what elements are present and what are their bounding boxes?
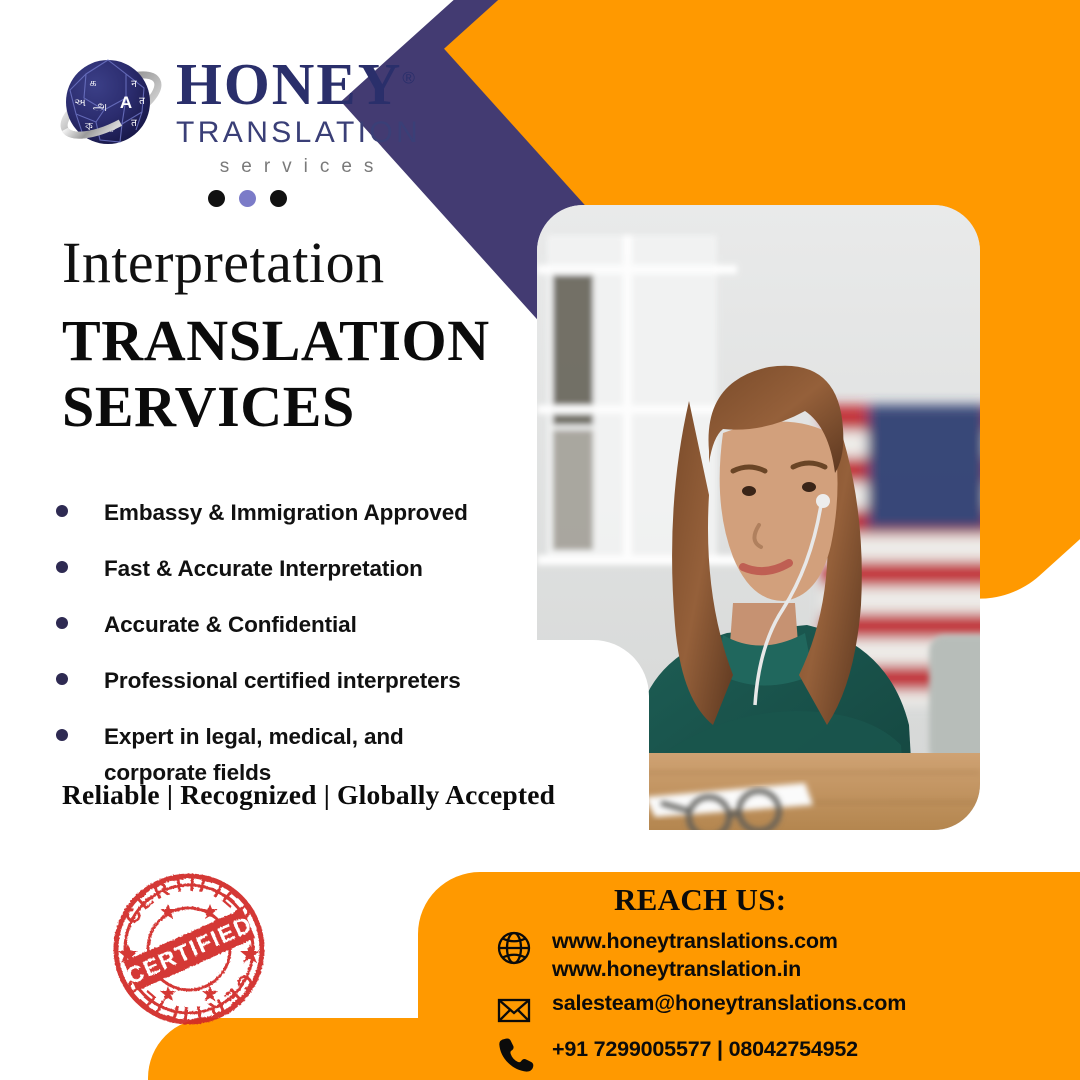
phone-icon bbox=[494, 1032, 534, 1072]
hero-headline: TRANSLATION SERVICES bbox=[62, 308, 490, 440]
svg-text:A: A bbox=[120, 93, 132, 112]
website-text[interactable]: www.honeytranslations.com www.honeytrans… bbox=[552, 928, 838, 983]
contact-row-phone[interactable]: +91 7299005577 | 08042754952 bbox=[494, 1032, 858, 1072]
svg-text:க: க bbox=[89, 77, 96, 89]
feature-text: Accurate & Confidential bbox=[104, 607, 357, 643]
dot-separator bbox=[208, 190, 287, 207]
logo-line-translation: TRANSLATION bbox=[176, 116, 421, 150]
svg-text:न: न bbox=[131, 79, 137, 90]
dot-2 bbox=[239, 190, 256, 207]
poster-canvas: க ଴ न અ அ A त ক ச त HONEY® bbox=[0, 0, 1080, 1080]
envelope-icon bbox=[494, 990, 534, 1030]
logo-name: HONEY bbox=[176, 51, 402, 117]
globe-logo-icon: க ଴ न અ அ A त ক ச त bbox=[56, 50, 166, 160]
contact-row-email[interactable]: salesteam@honeytranslations.com bbox=[494, 990, 906, 1030]
bullet-icon bbox=[56, 729, 68, 741]
bullet-icon bbox=[56, 673, 68, 685]
certified-stamp-badge: CERTIFIED CERTIFIED CERTIFIED bbox=[108, 868, 270, 1030]
email-text[interactable]: salesteam@honeytranslations.com bbox=[552, 990, 906, 1018]
contact-row-website[interactable]: www.honeytranslations.com www.honeytrans… bbox=[494, 928, 838, 983]
registered-trademark-icon: ® bbox=[402, 68, 415, 87]
svg-text:அ: அ bbox=[93, 98, 107, 113]
svg-text:त: त bbox=[139, 96, 145, 107]
dot-3 bbox=[270, 190, 287, 207]
list-item: Embassy & Immigration Approved bbox=[56, 495, 526, 531]
bullet-icon bbox=[56, 617, 68, 629]
feature-text: Professional certified interpreters bbox=[104, 663, 461, 699]
tagline: Reliable | Recognized | Globally Accepte… bbox=[62, 779, 555, 811]
dot-1 bbox=[208, 190, 225, 207]
globe-icon bbox=[494, 928, 534, 968]
website-secondary[interactable]: www.honeytranslation.in bbox=[552, 957, 801, 981]
feature-text: Embassy & Immigration Approved bbox=[104, 495, 468, 531]
bullet-icon bbox=[56, 561, 68, 573]
list-item: Professional certified interpreters bbox=[56, 663, 526, 699]
website-primary[interactable]: www.honeytranslations.com bbox=[552, 929, 838, 953]
headline-line-2: SERVICES bbox=[62, 374, 490, 440]
bullet-icon bbox=[56, 505, 68, 517]
svg-text:અ: અ bbox=[74, 97, 86, 109]
list-item: Accurate & Confidential bbox=[56, 607, 526, 643]
brand-logo: க ଴ न અ அ A त ক ச त HONEY® bbox=[56, 50, 421, 178]
logo-line-services: services bbox=[176, 156, 421, 178]
hero-kicker: Interpretation bbox=[62, 234, 385, 292]
feature-list: Embassy & Immigration Approved Fast & Ac… bbox=[56, 495, 526, 811]
list-item: Fast & Accurate Interpretation bbox=[56, 551, 526, 587]
svg-text:त: त bbox=[131, 118, 137, 129]
contact-heading: REACH US: bbox=[614, 882, 786, 918]
feature-text: Fast & Accurate Interpretation bbox=[104, 551, 423, 587]
phone-text[interactable]: +91 7299005577 | 08042754952 bbox=[552, 1036, 858, 1064]
headline-line-1: TRANSLATION bbox=[62, 308, 490, 374]
logo-wordmark: HONEY® TRANSLATION services bbox=[176, 56, 421, 178]
